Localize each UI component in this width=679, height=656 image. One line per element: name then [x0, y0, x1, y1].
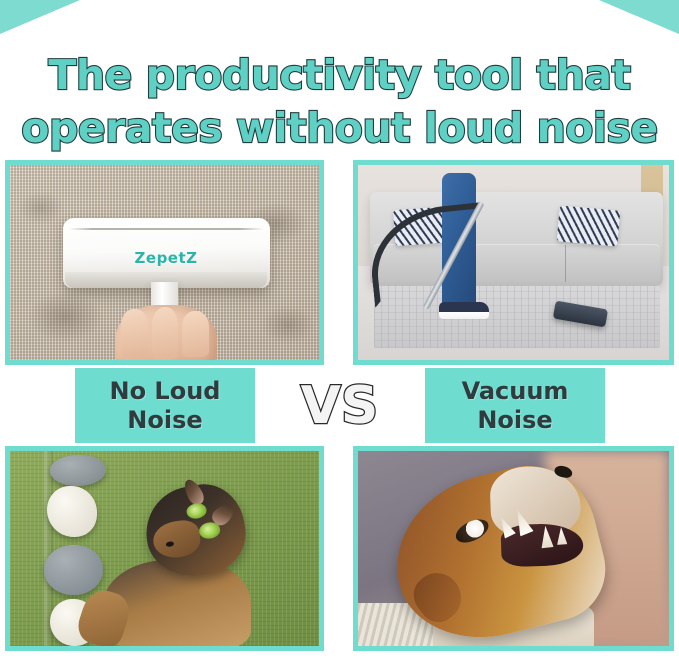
pet-hair-remover-photo: ZepetZ: [5, 160, 324, 365]
blurred-background: [358, 451, 669, 646]
throw-pillow: [556, 206, 620, 247]
dog-open-mouth: [500, 523, 583, 567]
green-towel-background: [10, 451, 319, 646]
roller-seam: [69, 228, 264, 230]
barking-dog-photo: [353, 446, 674, 651]
relaxed-dog-photo: [5, 446, 324, 651]
hand: [115, 305, 217, 364]
page-title: The productivity tool that operates with…: [0, 49, 679, 154]
carpet-background: ZepetZ: [10, 165, 319, 360]
seat-seam: [565, 245, 566, 282]
corner-triangle-top-left: [0, 0, 80, 34]
spa-stone: [47, 486, 96, 537]
dog-eye: [452, 515, 492, 548]
finger: [121, 309, 148, 358]
finger: [152, 307, 179, 361]
label-vacuum-noise: Vacuum Noise: [425, 368, 605, 443]
label-no-loud-noise: No Loud Noise: [75, 368, 255, 443]
sneaker: [439, 302, 489, 320]
cucumber-slice: [185, 502, 208, 521]
comparison-band: No Loud Noise Vacuum Noise VS: [0, 368, 679, 443]
living-room-background: [358, 165, 669, 360]
finger: [182, 311, 209, 358]
cucumber-slice: [198, 521, 221, 540]
roller-body: ZepetZ: [63, 218, 270, 288]
vacuum-cleaning-photo: [353, 160, 674, 365]
corner-triangle-top-right: [599, 0, 679, 34]
dog-nose: [166, 541, 175, 548]
brand-logo: ZepetZ: [63, 249, 270, 267]
spa-stone: [44, 545, 103, 596]
dog-muzzle: [150, 518, 203, 562]
